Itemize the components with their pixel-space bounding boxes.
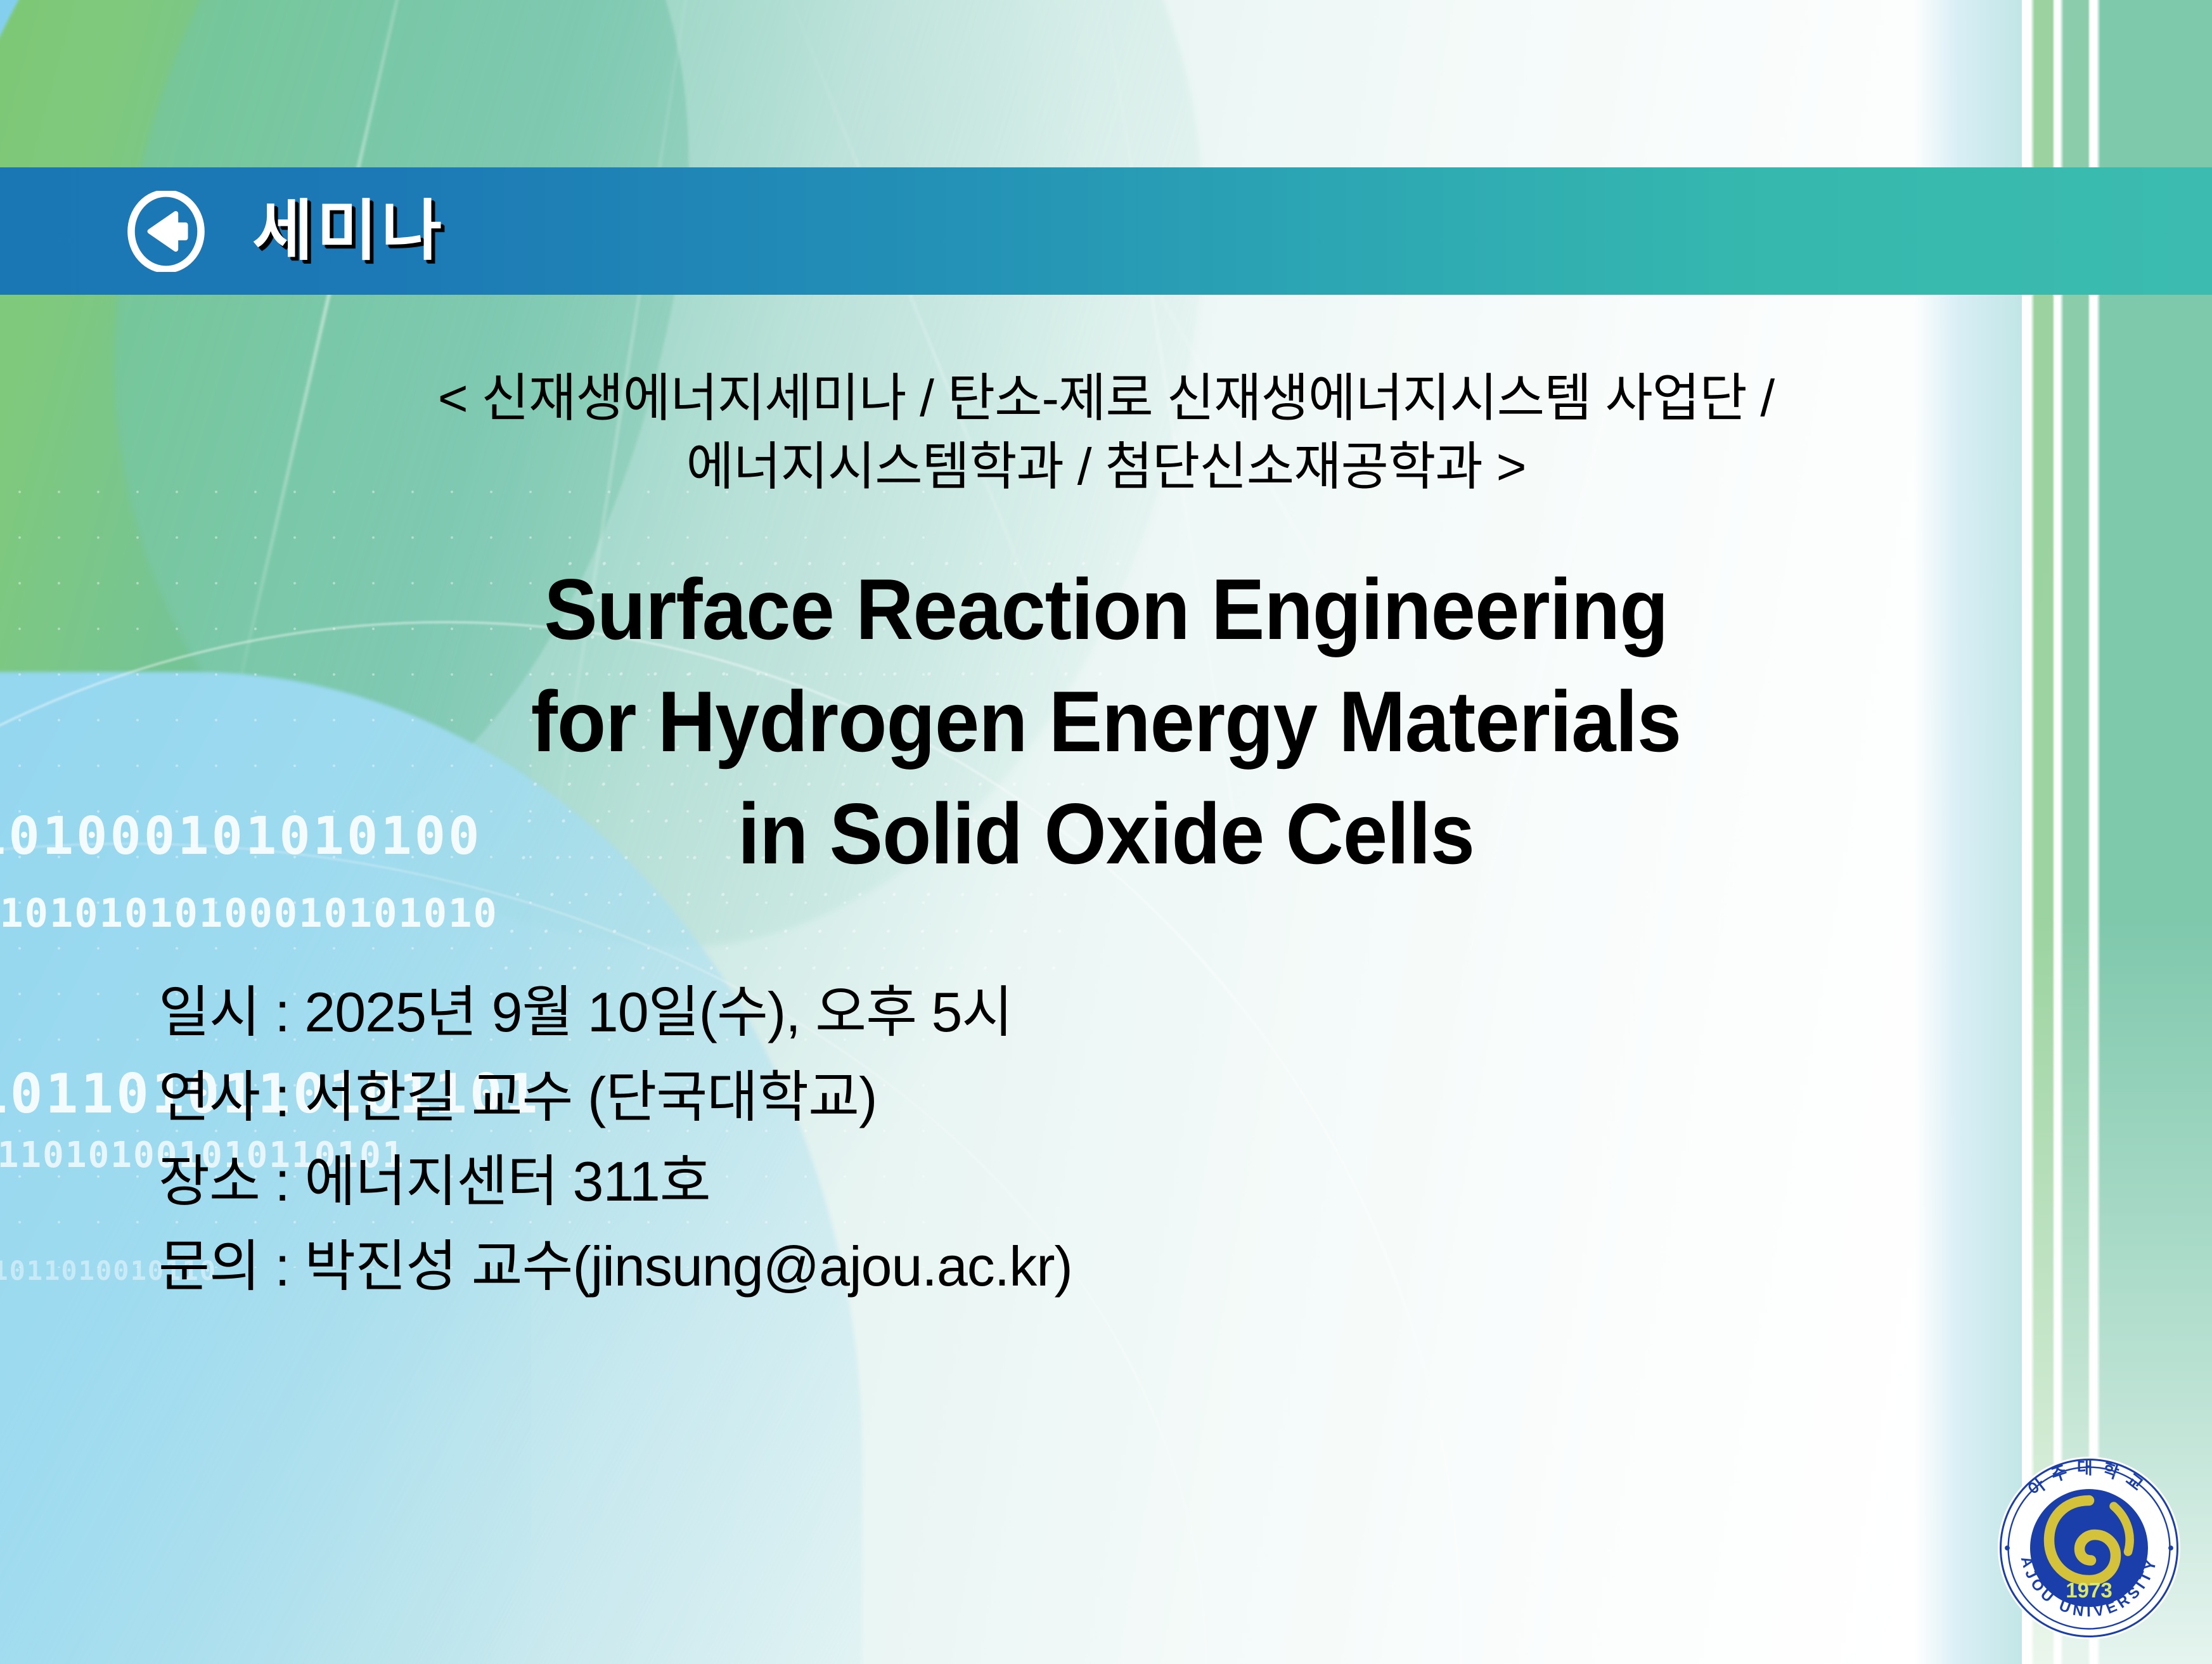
header-bar: 세미나 bbox=[0, 167, 2212, 295]
seminar-details: 일시 : 2025년 9월 10일(수), 오후 5시 연사 : 서한길 교수 … bbox=[0, 890, 2212, 1309]
detail-contact: 문의 : 박진성 교수(jinsung@ajou.ac.kr) bbox=[158, 1224, 2212, 1309]
subtitle-line-1: < 신재생에너지세미나 / 탄소-제로 신재생에너지시스템 사업단 / bbox=[127, 364, 2085, 433]
seminar-poster: 101000101010100 010101010100010101010 10… bbox=[0, 0, 2212, 1664]
detail-venue: 장소 : 에너지센터 311호 bbox=[158, 1139, 2212, 1224]
seminar-title: Surface Reaction Engineering for Hydroge… bbox=[77, 501, 2135, 889]
header-title: 세미나 bbox=[252, 198, 446, 264]
poster-content: < 신재생에너지세미나 / 탄소-제로 신재생에너지시스템 사업단 / 에너지시… bbox=[0, 295, 2212, 1309]
back-arrow-circle-icon[interactable] bbox=[125, 191, 207, 272]
detail-speaker: 연사 : 서한길 교수 (단국대학교) bbox=[158, 1055, 2212, 1140]
title-line-3: in Solid Oxide Cells bbox=[148, 778, 2064, 890]
ajou-university-logo: 1973 아주대학교 AJOU UNIVERSITY bbox=[1994, 1453, 2184, 1643]
logo-year: 1973 bbox=[2066, 1578, 2112, 1602]
subtitle-line-2: 에너지시스템학과 / 첨단신소재공학과 > bbox=[127, 433, 2085, 501]
title-line-2: for Hydrogen Energy Materials bbox=[148, 666, 2064, 778]
title-line-1: Surface Reaction Engineering bbox=[148, 553, 2064, 666]
seminar-series-subtitle: < 신재생에너지세미나 / 탄소-제로 신재생에너지시스템 사업단 / 에너지시… bbox=[0, 295, 2212, 501]
detail-datetime: 일시 : 2025년 9월 10일(수), 오후 5시 bbox=[158, 970, 2212, 1055]
